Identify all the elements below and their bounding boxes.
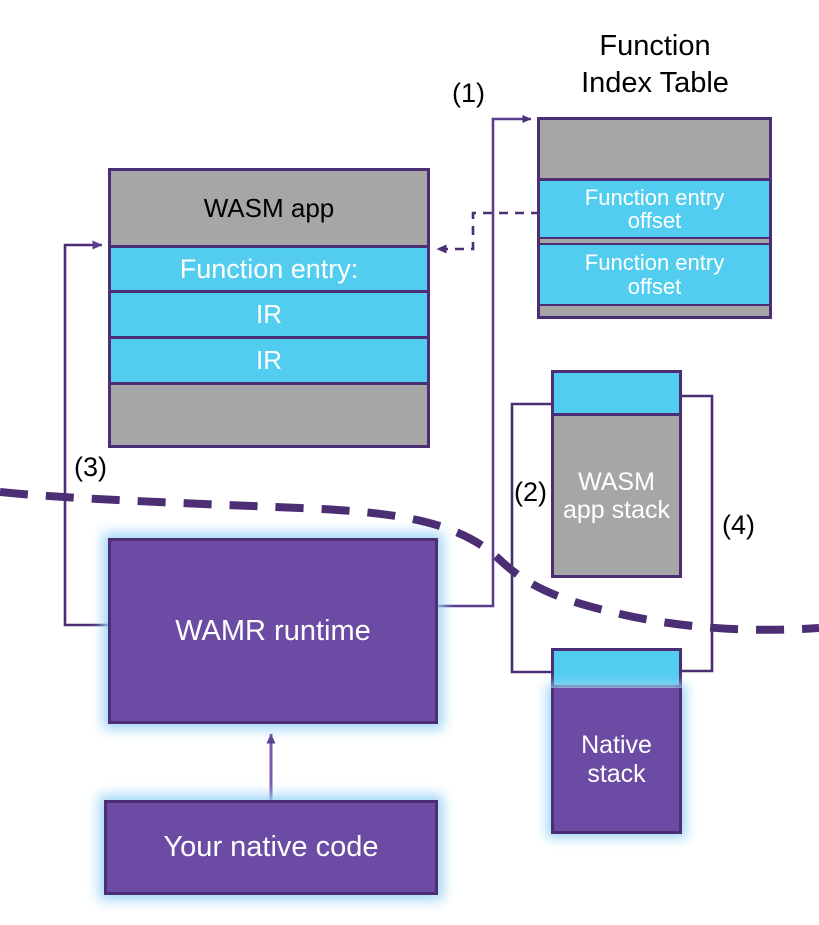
fit-title-line2: Index Table	[530, 65, 780, 102]
wasm-app-ir-row: IR	[111, 293, 427, 339]
fit-row-divider	[540, 237, 769, 245]
fit-title-line1: Function	[530, 28, 780, 65]
fit-entry-row-line2: offset	[628, 209, 681, 232]
function-index-table-box: Function entry offset Function entry off…	[537, 117, 772, 319]
native-code-label: Your native code	[164, 831, 379, 864]
native-stack-header	[551, 648, 682, 688]
function-index-table-title: Function Index Table	[530, 28, 780, 102]
wasm-app-box: WASM app Function entry: IR IR	[108, 168, 430, 448]
fit-entry-row: Function entry offset	[540, 178, 769, 237]
native-stack-label-line2: stack	[587, 760, 645, 789]
fit-entry-row-line1: Function entry	[585, 251, 724, 274]
wasm-app-function-entry-row: Function entry:	[111, 245, 427, 293]
native-stack-box: Native stack	[551, 648, 682, 834]
wasm-app-stack-box: WASM app stack	[551, 370, 682, 578]
wamr-runtime-box: WAMR runtime	[108, 538, 438, 724]
wasm-app-tail-region	[111, 385, 427, 442]
native-stack-label-line1: Native	[581, 731, 652, 760]
native-stack-body: Native stack	[551, 688, 682, 834]
wasm-app-header: WASM app	[111, 171, 427, 245]
step-label-1: (1)	[452, 78, 485, 109]
step-label-2: (2)	[514, 477, 547, 508]
fit-entry-row-line1: Function entry	[585, 186, 724, 209]
wasm-app-stack-header	[551, 370, 682, 416]
connector-step1	[433, 119, 531, 606]
wasm-app-stack-label-line1: WASM	[578, 468, 655, 496]
wasm-app-function-entry-label: Function entry:	[180, 254, 359, 285]
fit-entry-row: Function entry offset	[540, 245, 769, 304]
fit-row-divider	[540, 304, 769, 313]
wasm-app-ir-label: IR	[256, 299, 282, 330]
connector-step3	[65, 245, 108, 625]
step-label-3: (3)	[74, 452, 107, 483]
fit-entry-row-line2: offset	[628, 275, 681, 298]
wasm-app-stack-body: WASM app stack	[551, 416, 682, 578]
diagram-canvas: Function Index Table Function entry offs…	[0, 0, 819, 925]
wamr-runtime-label: WAMR runtime	[175, 615, 371, 648]
step-label-4: (4)	[722, 510, 755, 541]
native-code-box: Your native code	[104, 800, 438, 895]
wasm-app-ir-label: IR	[256, 345, 282, 376]
fit-header-region	[540, 120, 769, 178]
wasm-app-ir-row: IR	[111, 339, 427, 385]
wasm-app-header-label: WASM app	[204, 193, 335, 224]
wasm-app-stack-label-line2: app stack	[563, 496, 670, 524]
